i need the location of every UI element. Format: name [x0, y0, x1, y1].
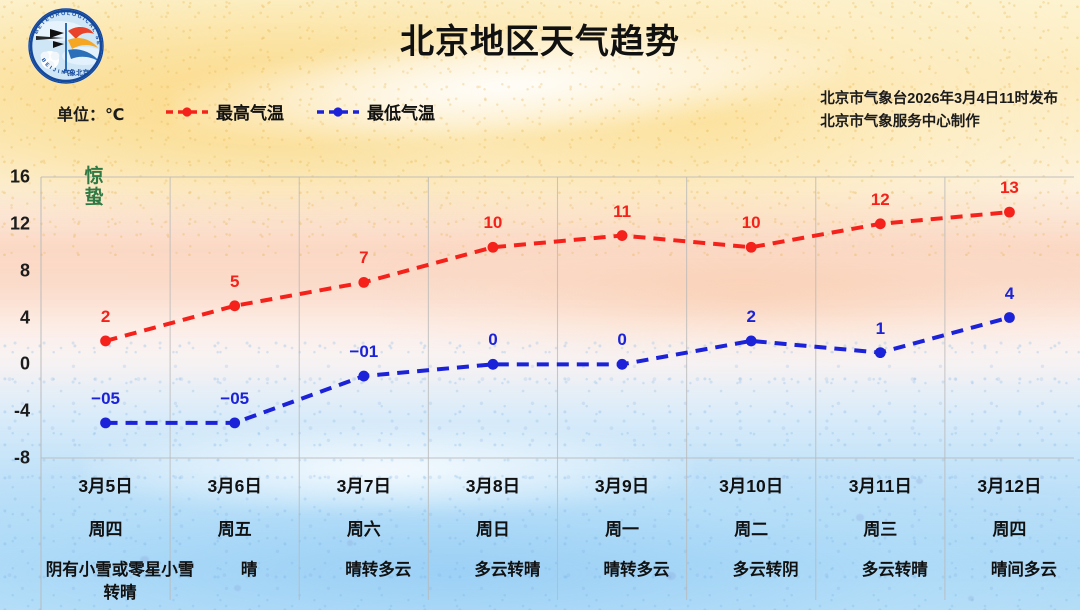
data-point-low	[746, 336, 757, 347]
data-point-high	[488, 242, 499, 253]
data-point-high	[875, 218, 886, 229]
data-point-high	[358, 277, 369, 288]
day-condition-label: 晴转多云	[562, 559, 712, 582]
day-date-label: 3月10日	[691, 473, 812, 498]
day-date-label: 3月8日	[432, 473, 553, 498]
day-weekday-label: 周四	[949, 515, 1070, 540]
day-weekday-label: 周一	[562, 515, 683, 540]
x-axis-day-column: 3月11日周三多云转晴	[820, 473, 941, 582]
data-point-high	[1004, 207, 1015, 218]
data-point-high	[617, 230, 628, 241]
value-label-low: 1	[876, 319, 885, 339]
data-point-low	[488, 359, 499, 370]
data-point-high	[746, 242, 757, 253]
day-weekday-label: 周日	[432, 515, 553, 540]
day-condition-label: 晴转多云	[303, 559, 453, 582]
value-label-high: 2	[101, 307, 110, 327]
day-weekday-label: 周二	[691, 515, 812, 540]
y-axis-tick-label: 0	[0, 354, 30, 375]
value-label-high: 10	[483, 213, 502, 233]
day-condition-label: 多云转晴	[432, 559, 582, 582]
data-point-low	[100, 417, 111, 428]
data-point-low	[358, 371, 369, 382]
day-date-label: 3月11日	[820, 473, 941, 498]
day-date-label: 3月6日	[174, 473, 295, 498]
value-label-low: −05	[220, 389, 249, 409]
value-label-high: 5	[230, 272, 239, 292]
day-date-label: 3月5日	[45, 473, 166, 498]
value-label-high: 11	[613, 202, 631, 222]
data-point-low	[617, 359, 628, 370]
day-weekday-label: 周五	[174, 515, 295, 540]
value-label-low: 4	[1005, 284, 1014, 304]
day-condition-label: 多云转晴	[820, 559, 970, 582]
solar-term-annotation: 惊蛰	[83, 166, 105, 209]
x-axis-day-column: 3月6日周五晴	[174, 473, 295, 582]
x-axis-day-column: 3月7日周六晴转多云	[303, 473, 424, 582]
y-axis-tick-label: -8	[0, 448, 30, 469]
value-label-high: 10	[742, 213, 761, 233]
day-condition-label: 多云转阴	[691, 559, 841, 582]
y-axis-tick-label: 12	[0, 213, 30, 234]
value-label-high: 13	[1000, 178, 1019, 198]
data-point-low	[229, 417, 240, 428]
day-weekday-label: 周六	[303, 515, 424, 540]
y-axis-tick-label: 8	[0, 260, 30, 281]
value-label-low: 0	[617, 330, 626, 350]
day-weekday-label: 周三	[820, 515, 941, 540]
value-label-low: −05	[91, 389, 120, 409]
value-label-low: 0	[488, 330, 497, 350]
day-condition-label: 阴有小雪或零星小雪转晴	[45, 559, 195, 606]
day-condition-label: 晴间多云	[949, 559, 1080, 582]
value-label-low: 2	[746, 307, 755, 327]
data-point-high	[100, 336, 111, 347]
y-axis-tick-label: 16	[0, 167, 30, 188]
data-point-low	[1004, 312, 1015, 323]
data-point-high	[229, 300, 240, 311]
value-label-low: −01	[349, 342, 378, 362]
day-condition-label: 晴	[174, 559, 324, 582]
day-date-label: 3月9日	[562, 473, 683, 498]
day-date-label: 3月12日	[949, 473, 1070, 498]
value-label-high: 12	[871, 190, 890, 210]
x-axis-day-column: 3月5日周四阴有小雪或零星小雪转晴	[45, 473, 166, 606]
value-label-high: 7	[359, 248, 368, 268]
day-weekday-label: 周四	[45, 515, 166, 540]
day-date-label: 3月7日	[303, 473, 424, 498]
y-axis-tick-label: -4	[0, 401, 30, 422]
y-axis-tick-label: 4	[0, 307, 30, 328]
x-axis-day-column: 3月9日周一晴转多云	[562, 473, 683, 582]
x-axis-day-column: 3月12日周四晴间多云	[949, 473, 1070, 582]
x-axis-day-column: 3月10日周二多云转阴	[691, 473, 812, 582]
weather-trend-infographic: METEOROLOGICAL SERVICE BEIJING 气象北京 北京地区…	[0, 0, 1080, 610]
x-axis-day-column: 3月8日周日多云转晴	[432, 473, 553, 582]
data-point-low	[875, 347, 886, 358]
